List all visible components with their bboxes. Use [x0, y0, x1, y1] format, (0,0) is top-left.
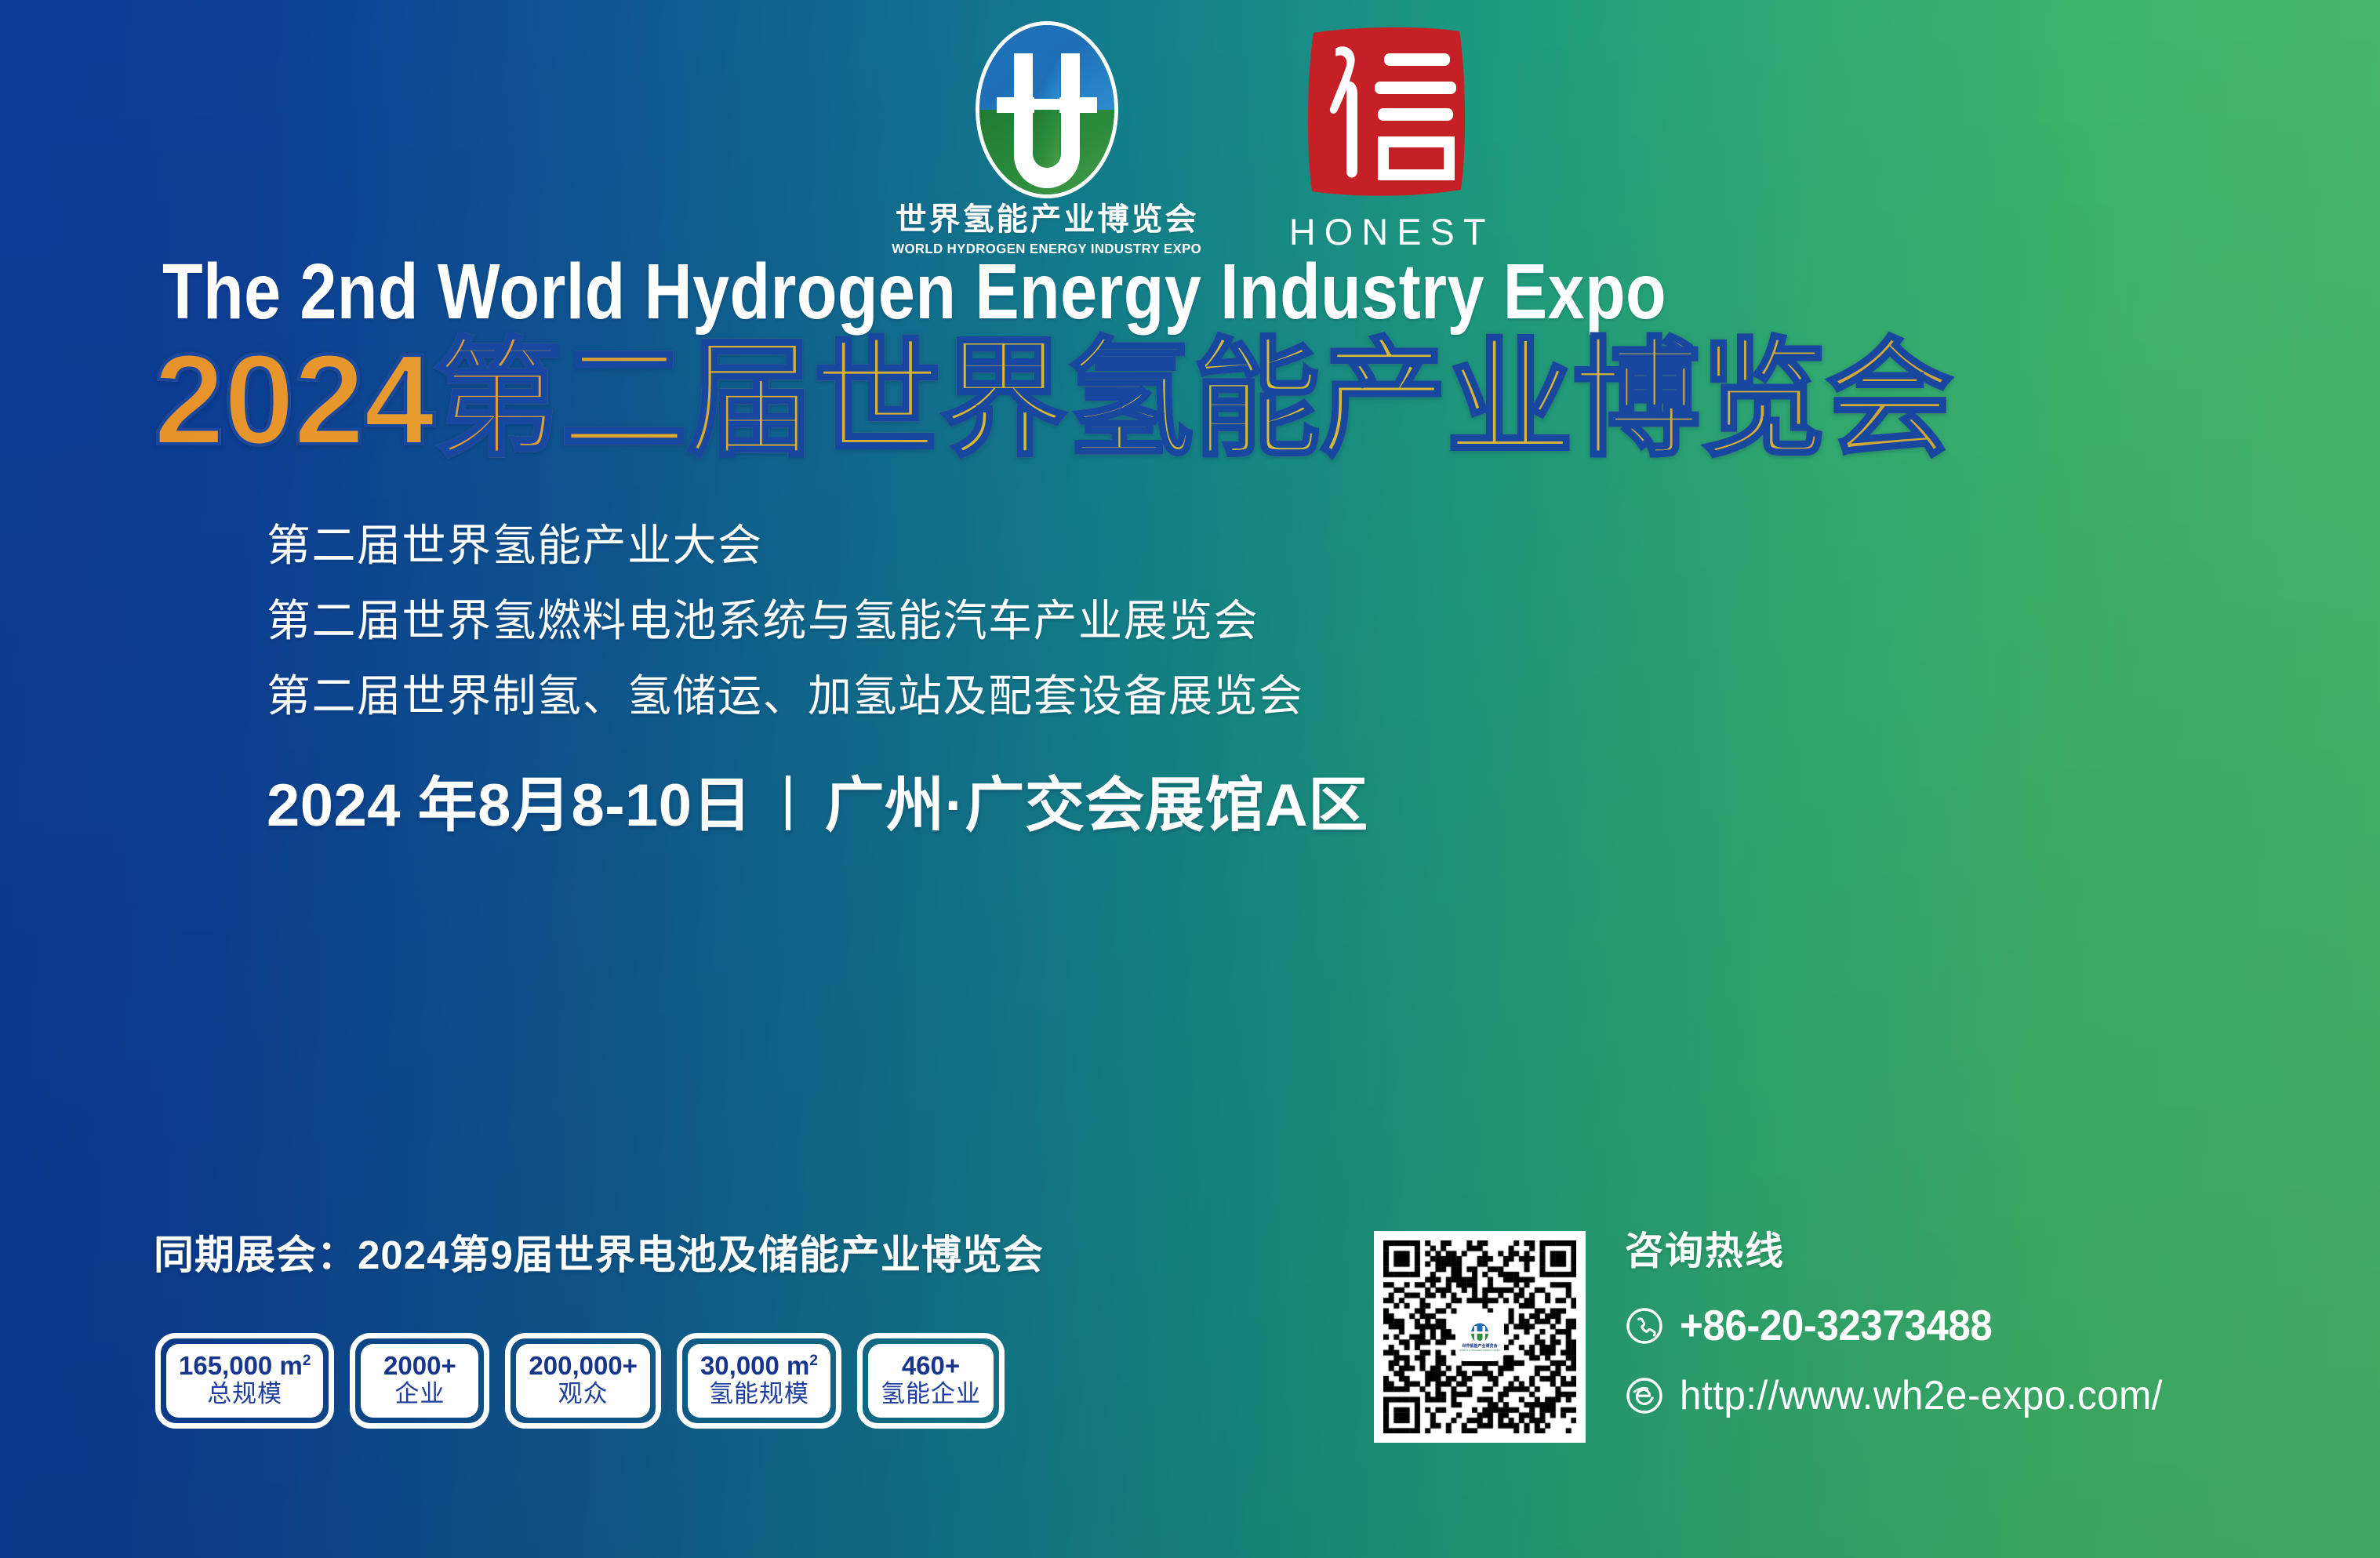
date-venue-line: 2024 年8月8-10日丨广州·广交会展馆A区: [267, 776, 1368, 836]
english-headline: The 2nd World Hydrogen Energy Industry E…: [162, 252, 1666, 331]
stat-badge-value: 2000+: [383, 1352, 456, 1380]
date-venue-separator: 丨: [752, 772, 825, 839]
stat-badge-inner: 165,000 m2 总规模: [166, 1344, 323, 1418]
expo-logo: 世界氢能产业博览会 WORLD HYDROGEN ENERGY INDUSTRY…: [885, 19, 1208, 256]
event-date: 2024 年8月8-10日: [267, 772, 752, 839]
stats-badge-row: 165,000 m2 总规模 2000+ 企业 200,000+ 观众 30,0…: [155, 1333, 1005, 1429]
stat-badge-label: 观众: [558, 1381, 609, 1408]
whee-mini-mark-icon: [1468, 1323, 1492, 1343]
concurrent-exhibition-text: 同期展会：2024第9届世界电池及储能产业博览会: [154, 1235, 1044, 1275]
stat-badge: 165,000 m2 总规模: [155, 1333, 334, 1429]
stat-badge-label: 总规模: [207, 1381, 282, 1408]
browser-e-icon: [1625, 1376, 1664, 1415]
stat-badge-value: 165,000 m2: [179, 1352, 311, 1380]
stat-badge-unit-sup: 2: [809, 1353, 818, 1369]
whee-oval-mark-icon: [973, 19, 1121, 201]
contact-phone-row: +86-20-32373488: [1625, 1304, 2188, 1347]
stat-badge-inner: 460+ 氢能企业: [868, 1344, 994, 1418]
event-venue: 广州·广交会展馆A区: [825, 772, 1368, 839]
contact-url-row: http://www.wh2e-expo.com/: [1625, 1375, 2188, 1416]
stat-badge-value: 460+: [902, 1352, 960, 1380]
contact-website-url[interactable]: http://www.wh2e-expo.com/: [1680, 1375, 2163, 1416]
stat-badge-inner: 200,000+ 观众: [516, 1344, 650, 1418]
subtitle-line-1: 第二届世界氢能产业大会: [267, 524, 1304, 568]
qr-logo-en: WORLD HYDROGEN ENERGY EXPO: [1459, 1349, 1500, 1352]
poster-banner: 世界氢能产业博览会 WORLD HYDROGEN ENERGY INDUSTRY…: [0, 0, 2380, 1558]
honest-logo: HONEST: [1281, 19, 1495, 250]
stat-badge-inner: 30,000 m2 氢能规模: [688, 1344, 830, 1418]
phone-circle-icon: [1625, 1306, 1664, 1346]
stat-badge: 200,000+ 观众: [505, 1333, 661, 1429]
stat-badge: 30,000 m2 氢能规模: [677, 1333, 841, 1429]
stat-badge-label: 氢能企业: [881, 1381, 981, 1408]
stat-badge: 2000+ 企业: [350, 1333, 489, 1429]
contact-phone-number[interactable]: +86-20-32373488: [1680, 1304, 1992, 1347]
stat-badge-label: 企业: [394, 1381, 445, 1408]
stat-badge-value: 200,000+: [529, 1352, 638, 1380]
contact-title: 咨询热线: [1625, 1233, 2188, 1271]
stat-badge: 460+ 氢能企业: [857, 1333, 1005, 1429]
stat-badge-value: 30,000 m2: [700, 1352, 818, 1380]
subtitle-line-3: 第二届世界制氢、氢储运、加氢站及配套设备展览会: [267, 674, 1304, 718]
logo-row: 世界氢能产业博览会 WORLD HYDROGEN ENERGY INDUSTRY…: [0, 19, 2380, 256]
qr-code-panel: 世界氢能产业博览会 WORLD HYDROGEN ENERGY EXPO: [1374, 1231, 1586, 1443]
contact-info: 咨询热线 +86-20-32373488: [1625, 1231, 2188, 1416]
contact-block: 世界氢能产业博览会 WORLD HYDROGEN ENERGY EXPO 咨询热…: [1374, 1231, 2188, 1443]
stat-badge-label: 氢能规模: [709, 1381, 809, 1408]
subtitle-line-2: 第二届世界氢燃料电池系统与氢能汽车产业展览会: [267, 599, 1304, 643]
stat-badge-unit-sup: 2: [303, 1353, 311, 1369]
honest-seal-icon: [1296, 22, 1478, 204]
qr-center-logo: 世界氢能产业博览会 WORLD HYDROGEN ENERGY EXPO: [1457, 1314, 1502, 1360]
expo-logo-cn-name: 世界氢能产业博览会: [896, 204, 1199, 235]
honest-logo-en-name: HONEST: [1281, 213, 1495, 250]
stat-badge-inner: 2000+ 企业: [361, 1344, 478, 1418]
subtitle-list: 第二届世界氢能产业大会 第二届世界氢燃料电池系统与氢能汽车产业展览会 第二届世界…: [267, 524, 1304, 718]
qr-logo-cn: 世界氢能产业博览会: [1462, 1345, 1497, 1349]
chinese-headline: 2024第二届世界氢能产业博览会: [154, 332, 1953, 467]
